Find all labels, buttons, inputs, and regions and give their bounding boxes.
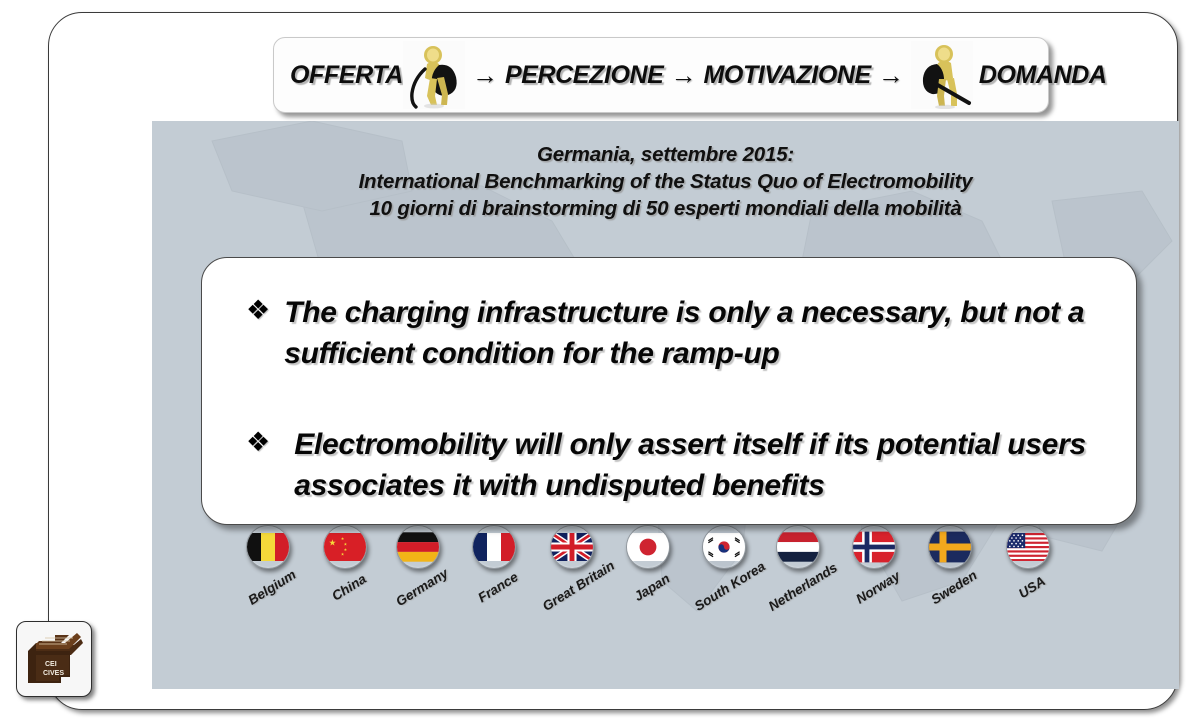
heading-line-3: 10 giorni di brainstorming di 50 esperti… <box>152 195 1179 222</box>
logo-line-1: CEI <box>45 661 57 668</box>
flag-item-germany[interactable]: Germany <box>380 525 456 569</box>
flag-item-france[interactable]: France <box>456 525 532 569</box>
logo-line-2: CIVES <box>43 670 64 677</box>
flag-label-sweden: Sweden <box>918 561 990 614</box>
flag-item-great-britain[interactable]: Great Britain <box>534 525 610 569</box>
flag-france-icon <box>472 525 516 569</box>
heading-block: Germania, settembre 2015: International … <box>152 141 1179 222</box>
person-with-pole-icon <box>911 41 973 109</box>
flag-label-france: France <box>462 561 534 614</box>
svg-text:★: ★ <box>344 542 348 547</box>
arrow-icon-1: → <box>472 60 498 91</box>
bullet-row-1: ❖ The charging infrastructure is only a … <box>246 292 1096 374</box>
flag-label-japan: Japan <box>616 561 688 614</box>
flag-label-norway: Norway <box>842 561 914 614</box>
flag-china-icon: ★★★★★ <box>323 525 367 569</box>
svg-text:★: ★ <box>341 536 345 541</box>
flag-item-sweden[interactable]: Sweden <box>912 525 988 569</box>
demand-label: DOMANDA <box>979 61 1107 90</box>
supply-label: OFFERTA <box>290 61 403 90</box>
flag-item-netherlands[interactable]: Netherlands <box>760 525 836 569</box>
person-refuelling-icon <box>403 41 465 109</box>
flag-item-usa[interactable]: USA <box>990 525 1066 569</box>
svg-text:★: ★ <box>329 538 337 548</box>
flag-great-britain-icon <box>550 525 594 569</box>
svg-text:★: ★ <box>341 551 345 556</box>
flag-item-norway[interactable]: Norway <box>836 525 912 569</box>
flag-usa-icon <box>1006 525 1050 569</box>
logo-badge[interactable]: CEI CIVES <box>16 621 92 697</box>
diamond-bullet-icon: ❖ <box>246 292 270 328</box>
arrow-icon-2: → <box>670 60 696 91</box>
flag-item-china[interactable]: ★★★★★ China <box>307 525 383 569</box>
perception-label: PERCEZIONE <box>505 61 664 90</box>
flag-label-usa: USA <box>996 561 1068 614</box>
flag-label-belgium: Belgium <box>236 561 308 614</box>
flag-item-japan[interactable]: Japan <box>610 525 686 569</box>
flag-label-netherlands: Netherlands <box>766 561 838 614</box>
heading-line-2: International Benchmarking of the Status… <box>152 168 1179 195</box>
flag-norway-icon <box>852 525 896 569</box>
flag-germany-icon <box>396 525 440 569</box>
flag-label-south-korea: South Korea <box>692 561 764 614</box>
bullet-text-1: The charging infrastructure is only a ne… <box>284 292 1096 374</box>
flag-item-belgium[interactable]: Belgium <box>230 525 306 569</box>
bullet-row-2: ❖ Electromobility will only assert itsel… <box>246 424 1096 506</box>
arrow-icon-3: → <box>878 60 904 91</box>
flag-south-korea-icon <box>702 525 746 569</box>
flag-label-germany: Germany <box>386 561 458 614</box>
flag-label-great-britain: Great Britain <box>540 561 612 614</box>
flag-japan-icon <box>626 525 670 569</box>
flag-item-south-korea[interactable]: South Korea <box>686 525 762 569</box>
flag-netherlands-icon <box>776 525 820 569</box>
slide-frame: Germania, settembre 2015: International … <box>48 12 1178 710</box>
bullet-card: ❖ The charging infrastructure is only a … <box>201 257 1137 525</box>
cei-cives-logo-icon: CEI CIVES <box>25 631 83 687</box>
flag-sweden-icon <box>928 525 972 569</box>
motivation-label: MOTIVAZIONE <box>703 61 870 90</box>
bullet-text-2: Electromobility will only assert itself … <box>284 424 1096 506</box>
flow-banner: OFFERTA → PERCEZIONE → MOTIVAZIONE → <box>273 37 1049 113</box>
flags-strip: Belgium ★★★★★ China Germany France <box>152 525 1179 675</box>
heading-line-1: Germania, settembre 2015: <box>152 141 1179 168</box>
flag-belgium-icon <box>246 525 290 569</box>
flag-label-china: China <box>313 561 385 614</box>
diamond-bullet-icon: ❖ <box>246 424 270 460</box>
